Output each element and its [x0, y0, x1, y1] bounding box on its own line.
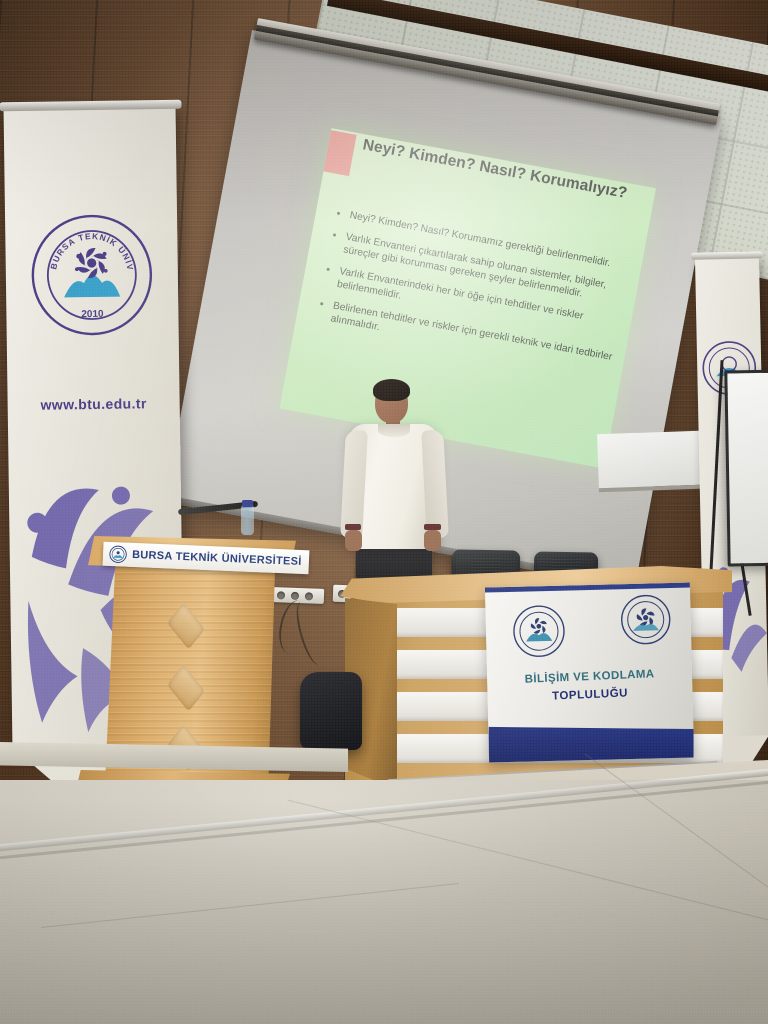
btu-seal-logo: BURSA TEKNİK ÜNİVERSİTESİ 2010 [29, 212, 155, 338]
slide-title: Neyi? Kimden? Nasıl? Korumalıyız? [361, 136, 645, 206]
speaker-hair [373, 379, 410, 401]
banner-rod [0, 100, 182, 112]
banner-rod [691, 251, 763, 260]
speaker-left-hand [345, 530, 362, 551]
club-banner-line1: BİLİŞİM VE KODLAMA [487, 667, 692, 688]
club-banner: BİLİŞİM VE KODLAMA TOPLULUĞU [485, 583, 694, 763]
btu-seal-icon [511, 604, 566, 659]
club-banner-line2: TOPLULUĞU [487, 685, 692, 706]
slide-bullet-list: Neyi? Kimden? Nasıl? Korumamız gerektiği… [312, 206, 632, 386]
seal-year: 2010 [81, 309, 104, 320]
btu-seal-icon [109, 545, 128, 564]
speaker-right-hand [424, 530, 441, 551]
floor-shading [0, 780, 768, 1024]
btu-seal-icon [619, 593, 672, 646]
projected-slide: Neyi? Kimden? Nasıl? Korumalıyız? Neyi? … [280, 128, 656, 468]
backpack [300, 672, 362, 750]
slide-accent-block [323, 130, 356, 176]
podium-nameplate-text: BURSA TEKNİK ÜNİVERSİTESİ [132, 549, 302, 568]
bottle-cap [242, 500, 253, 507]
speaker-collar [378, 424, 410, 437]
flipchart-board [724, 369, 768, 566]
water-bottle[interactable] [241, 505, 254, 535]
photo-scene: Neyi? Kimden? Nasıl? Korumalıyız? Neyi? … [0, 0, 768, 1024]
banner-url-text: www.btu.edu.tr [8, 395, 180, 413]
